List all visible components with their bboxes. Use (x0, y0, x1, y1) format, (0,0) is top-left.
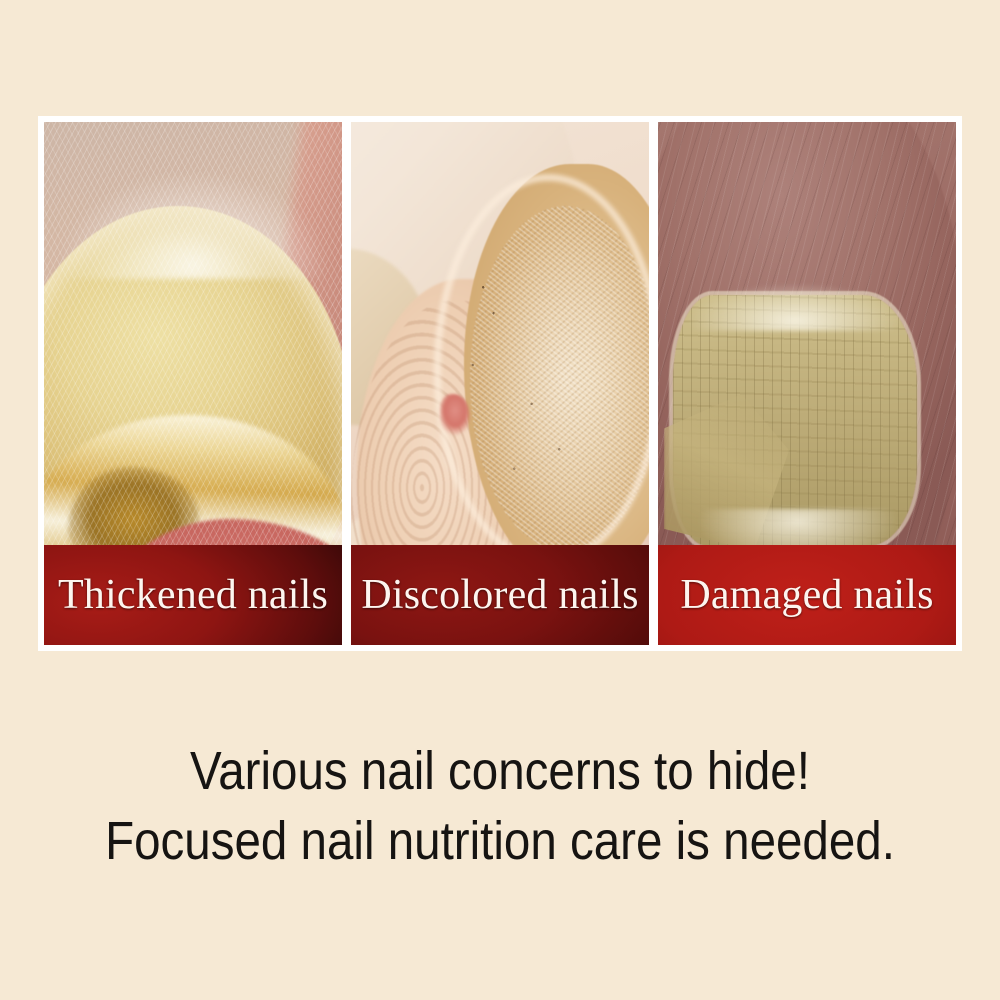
tagline-line-1: Various nail concerns to hide! (60, 736, 940, 806)
poster-root: Thickened nails Discolored nails (0, 0, 1000, 1000)
gallery-panel-thickened[interactable]: Thickened nails (44, 122, 342, 645)
tagline: Various nail concerns to hide! Focused n… (60, 736, 940, 876)
caption-label-thickened: Thickened nails (58, 571, 328, 619)
caption-label-discolored: Discolored nails (361, 571, 638, 619)
image-gallery: Thickened nails Discolored nails (38, 116, 962, 651)
caption-bar-damaged: Damaged nails (658, 545, 956, 645)
gallery-panel-damaged[interactable]: Damaged nails (658, 122, 956, 645)
caption-label-damaged: Damaged nails (680, 571, 933, 619)
gallery-panel-discolored[interactable]: Discolored nails (351, 122, 649, 645)
caption-bar-thickened: Thickened nails (44, 545, 342, 645)
tagline-line-2: Focused nail nutrition care is needed. (60, 806, 940, 876)
caption-bar-discolored: Discolored nails (351, 545, 649, 645)
